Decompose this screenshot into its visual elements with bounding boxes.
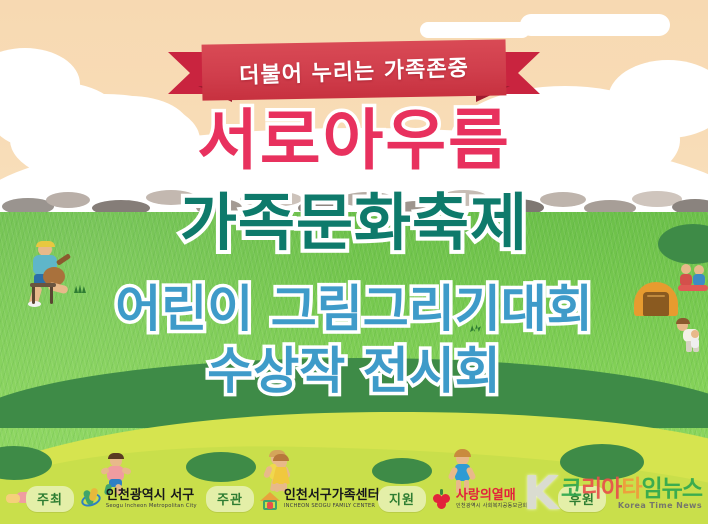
watermark-name-part4: 임뉴스 [642,476,702,502]
credit-support: 지원 사랑의열매 인천광역시 사회복지공동모금회 [378,486,527,512]
org-community-chest-text: 사랑의열매 인천광역시 사회복지공동모금회 [456,489,527,509]
watermark-name-en: Korea Time News [561,502,702,510]
festival-poster: 더불어 누리는 가족존중 서로아우름 가족문화축제 어린이 그림그리기대회 수상… [0,0,708,524]
watermark-korea-time-news: K 코리아타임뉴스 Korea Time News [523,474,702,514]
watermark-name-part3: 타 [621,476,641,502]
title-exhibit: 수상작 전시회 [0,346,708,396]
credit-role-support: 지원 [378,486,426,512]
org-seogu-name-ko: 인천광역시 서구 [106,489,197,502]
ribbon-banner: 더불어 누리는 가족존중 [168,42,540,104]
org-community-chest-name-en: 인천광역시 사회복지공동모금회 [456,504,527,509]
org-community-chest-name-ko: 사랑의열매 [456,489,527,502]
org-family-center-name-ko: 인천서구가족센터 [284,489,380,502]
org-seogu-text: 인천광역시 서구 Seogu Incheon Metropolitan City [106,489,197,509]
watermark-k-logo: K [523,474,559,514]
watermark-text: 코리아타임뉴스 Korea Time News [561,478,702,514]
org-community-chest: 사랑의열매 인천광역시 사회복지공동모금회 [432,488,527,510]
fruit-of-love-icon [432,488,452,510]
watermark-name-ko: 코리아타임뉴스 [561,478,702,501]
org-family-center: 인천서구가족센터 INCHEON SEOGU FAMILY CENTER [260,488,380,510]
cloud-small-top-right [420,22,530,38]
watermark-name-part1: 코 [561,476,581,502]
family-center-house-icon [260,488,280,510]
credit-organizer: 주관 인천서구가족센터 INCHEON SEOGU FAMILY CENTER [206,486,380,512]
org-family-center-text: 인천서구가족센터 INCHEON SEOGU FAMILY CENTER [284,489,380,509]
ribbon-slogan: 더불어 누리는 가족존중 [201,37,507,104]
seogu-emblem-icon [80,488,102,510]
title-subtitle: 가족문화축제 [0,192,708,254]
watermark-name-part2: 리아 [581,476,621,502]
org-seogu-name-en: Seogu Incheon Metropolitan City [106,504,197,509]
org-seogu: 인천광역시 서구 Seogu Incheon Metropolitan City [80,488,197,510]
org-family-center-name-en: INCHEON SEOGU FAMILY CENTER [284,504,380,509]
title-event: 어린이 그림그리기대회 [0,284,708,334]
cloud-small-top-right-2 [520,14,670,36]
title-main: 서로아우름 [0,108,708,174]
credit-host: 주최 인천광역시 서구 Seogu Incheon Metropolitan C… [26,486,197,512]
credit-role-organizer: 주관 [206,486,254,512]
credit-role-host: 주최 [26,486,74,512]
